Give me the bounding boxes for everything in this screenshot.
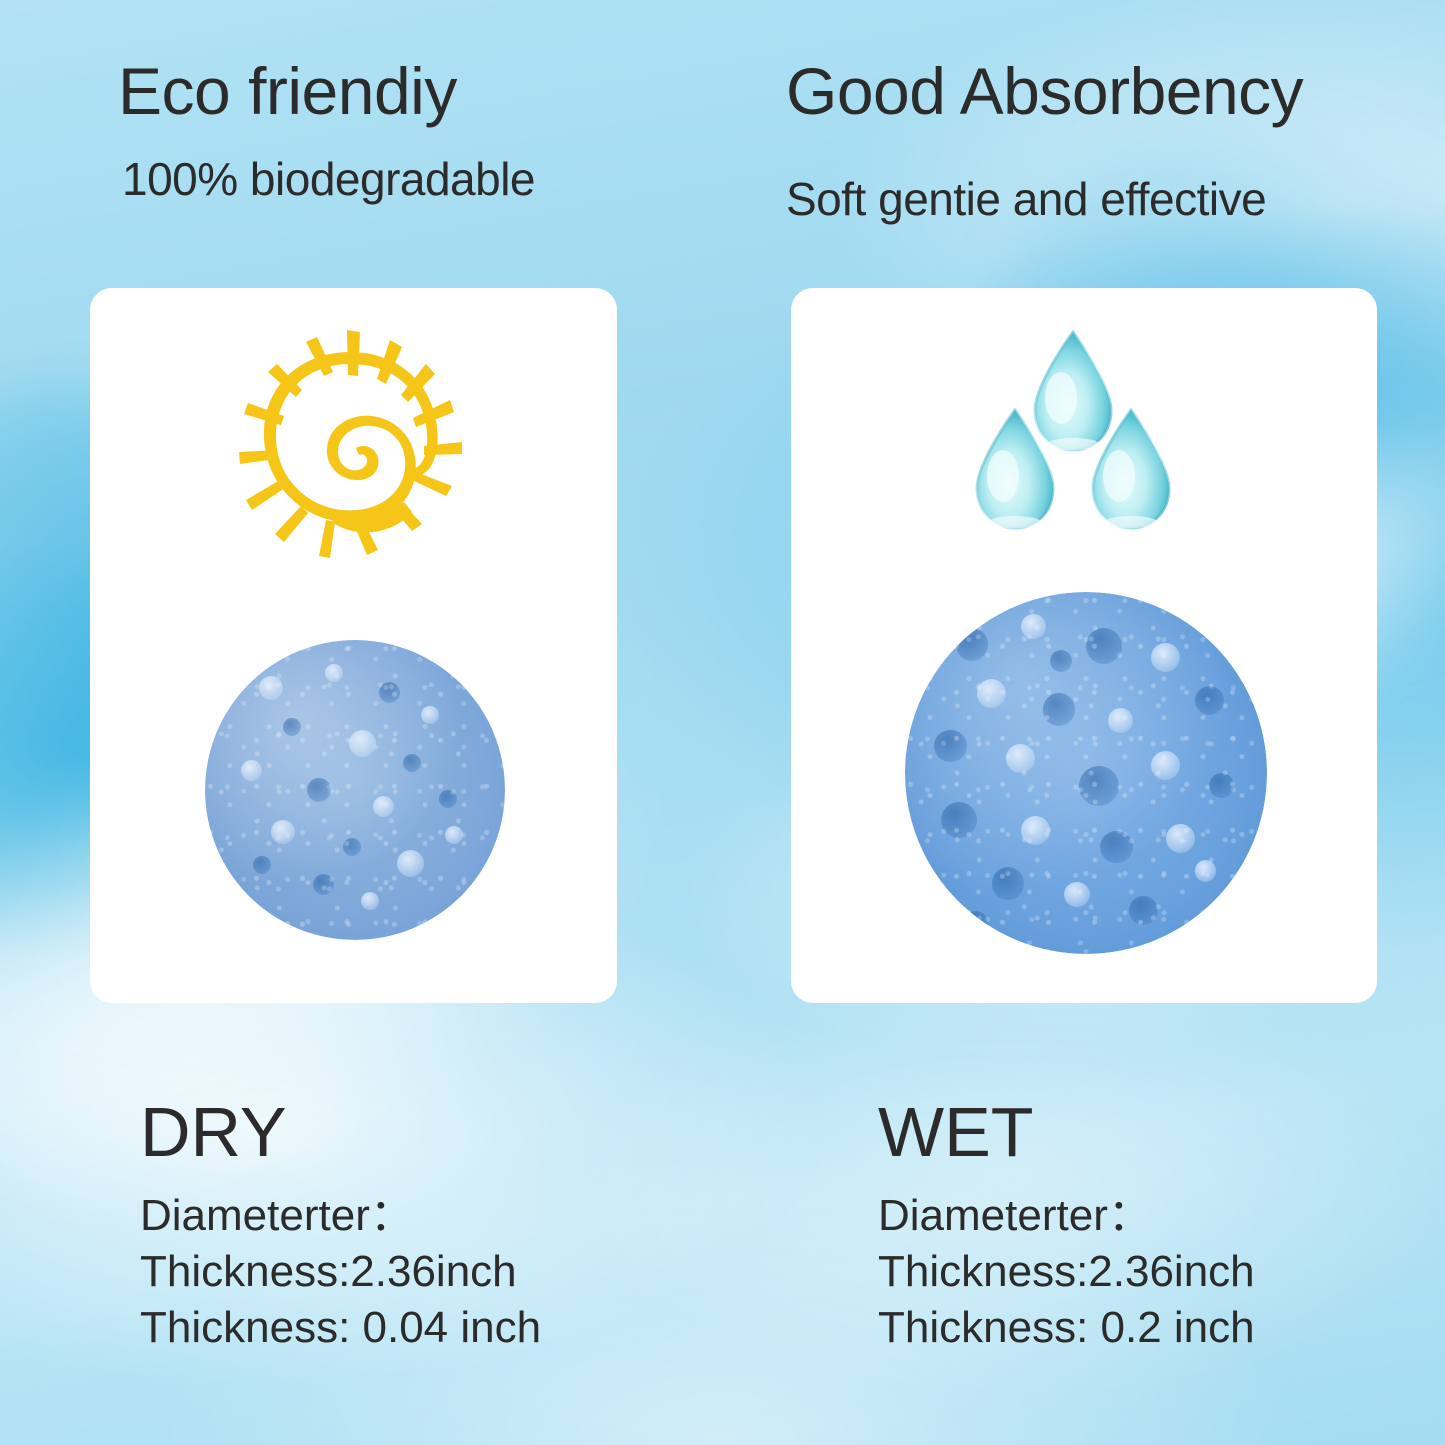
panel-dry-title: Eco friendiy [118,54,457,128]
spec-wet-thickness-primary: Thickness:2.36inch [878,1244,1255,1300]
droplet-top [1035,332,1111,450]
sun-icon [238,328,466,562]
dry-sponge-disc [205,640,505,940]
water-droplets-icon [955,326,1191,538]
spec-wet-thickness-secondary: Thickness: 0.2 inch [878,1300,1255,1356]
product-infographic: Eco friendiy 100% biodegradable Good Abs… [0,0,1445,1445]
spec-dry-label: DRY [140,1092,541,1172]
panel-wet-title: Good Absorbency [786,54,1303,128]
panel-wet-subtitle: Soft gentie and effective [786,172,1266,226]
dry-sponge-texture [205,640,505,940]
wet-sponge-texture [905,592,1267,954]
wet-sponge-disc [905,592,1267,954]
spec-dry-thickness-secondary: Thickness: 0.04 inch [140,1300,541,1356]
spec-block-dry: DRY Diameterter： Thickness:2.36inch Thic… [140,1092,541,1356]
spec-wet-label: WET [878,1092,1255,1172]
spec-dry-diameter: Diameterter： [140,1188,541,1244]
spec-block-wet: WET Diameterter： Thickness:2.36inch Thic… [878,1092,1255,1356]
panel-dry-subtitle: 100% biodegradable [122,152,535,206]
spec-wet-diameter: Diameterter： [878,1188,1255,1244]
spec-dry-thickness-primary: Thickness:2.36inch [140,1244,541,1300]
